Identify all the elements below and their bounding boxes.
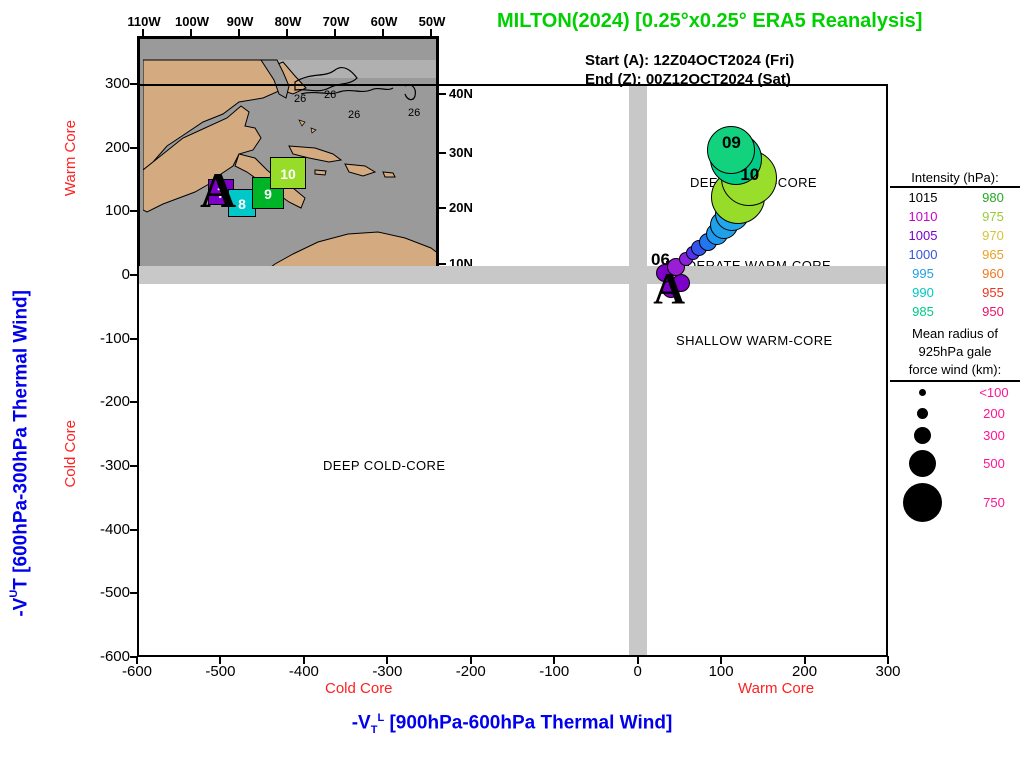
legend-radius-row: <100 [890, 382, 1020, 403]
legend-radius-dot [917, 408, 928, 419]
legend-intensity-value-right: 970 [970, 228, 1016, 243]
legend-intensity-row: 985950 [890, 302, 1020, 321]
y-tick-label: 300 [75, 75, 130, 92]
legend-radius-dot-wrap [896, 483, 948, 522]
legend-radius-label: 300 [970, 428, 1018, 443]
x-tick-mark [136, 656, 138, 664]
legend-radius-row: 750 [890, 480, 1020, 525]
y-tick-label: -500 [75, 584, 130, 601]
legend-intensity-title: Intensity (hPa): [890, 170, 1020, 188]
legend-radius-title-line: 925hPa gale [890, 343, 1020, 361]
lon-tick-mark [190, 29, 192, 36]
legend-intensity-row: 990955 [890, 283, 1020, 302]
legend-radius-row: 500 [890, 447, 1020, 480]
lon-tick-label: 110W [124, 14, 164, 29]
lon-tick-label: 90W [220, 14, 260, 29]
legend-radius-dot-wrap [896, 389, 948, 396]
legend-radius-row: 300 [890, 424, 1020, 447]
x-tick-mark [637, 656, 639, 664]
legend-intensity-value-left: 995 [900, 266, 946, 281]
legend-intensity-value-left: 1005 [900, 228, 946, 243]
track-day-label: 10 [740, 165, 759, 185]
lon-tick-mark [238, 29, 240, 36]
lon-tick-label: 100W [172, 14, 212, 29]
legend-intensity-value-left: 990 [900, 285, 946, 300]
legend: Intensity (hPa): 10159801010975100597010… [890, 170, 1020, 525]
legend-radius-dot [919, 389, 926, 396]
x-tick-label: -600 [107, 663, 167, 680]
legend-intensity-value-right: 960 [970, 266, 1016, 281]
x-tick-mark [470, 656, 472, 664]
lon-tick-mark [142, 29, 144, 36]
legend-radius-title: Mean radius of925hPa galeforce wind (km)… [890, 325, 1020, 382]
legend-radius-dot-wrap [896, 427, 948, 444]
x-tick-label: 200 [775, 663, 835, 680]
legend-radius-dot [909, 450, 936, 477]
legend-intensity-row: 1000965 [890, 245, 1020, 264]
x-tick-mark [553, 656, 555, 664]
legend-radius-rows: <100200300500750 [890, 382, 1020, 525]
track-points-layer: 060910A [137, 84, 888, 657]
lon-tick-label: 60W [364, 14, 404, 29]
x-tick-mark [219, 656, 221, 664]
legend-radius-label: <100 [970, 385, 1018, 400]
x-tick-label: -400 [274, 663, 334, 680]
legend-intensity-row: 1005970 [890, 226, 1020, 245]
x-tick-label: -100 [524, 663, 584, 680]
legend-intensity-value-left: 1010 [900, 209, 946, 224]
x-tick-label: 100 [691, 663, 751, 680]
x-tick-label: 0 [608, 663, 668, 680]
legend-intensity-row: 1010975 [890, 207, 1020, 226]
x-tick-label: -200 [441, 663, 501, 680]
y-tick-label: -200 [75, 393, 130, 410]
x-tick-label: -500 [190, 663, 250, 680]
lon-tick-mark [382, 29, 384, 36]
legend-intensity-value-left: 1015 [900, 190, 946, 205]
y-tick-label: -300 [75, 457, 130, 474]
legend-radius-label: 750 [970, 495, 1018, 510]
legend-intensity-rows: 1015980101097510059701000965995960990955… [890, 188, 1020, 321]
track-start-marker: A [653, 267, 685, 311]
x-tick-mark [303, 656, 305, 664]
lon-tick-label: 70W [316, 14, 356, 29]
legend-intensity-value-left: 985 [900, 304, 946, 319]
lon-tick-label: 80W [268, 14, 308, 29]
y-tick-label: 0 [75, 266, 130, 283]
x-tick-mark [887, 656, 889, 664]
legend-radius-label: 200 [970, 406, 1018, 421]
inset-map-lon-axis: 110W100W90W80W70W60W50W [137, 14, 439, 36]
x-tick-mark [720, 656, 722, 664]
y-tick-label: -400 [75, 521, 130, 538]
legend-radius-row: 200 [890, 403, 1020, 424]
legend-intensity-row: 1015980 [890, 188, 1020, 207]
x-tick-label: -300 [357, 663, 417, 680]
lon-tick-mark [286, 29, 288, 36]
legend-intensity-value-right: 965 [970, 247, 1016, 262]
legend-intensity-value-left: 1000 [900, 247, 946, 262]
legend-intensity-value-right: 955 [970, 285, 1016, 300]
legend-radius-dot-wrap [896, 450, 948, 477]
legend-radius-label: 500 [970, 456, 1018, 471]
legend-radius-title-line: Mean radius of [890, 325, 1020, 343]
lon-tick-mark [334, 29, 336, 36]
x-tick-mark [804, 656, 806, 664]
x-tick-mark [386, 656, 388, 664]
legend-radius-dot [903, 483, 942, 522]
legend-intensity-value-right: 980 [970, 190, 1016, 205]
legend-intensity-row: 995960 [890, 264, 1020, 283]
lon-tick-label: 50W [412, 14, 452, 29]
track-day-label: 09 [722, 133, 741, 153]
legend-radius-title-line: force wind (km): [890, 361, 1020, 379]
y-tick-label: 100 [75, 202, 130, 219]
y-tick-label: -100 [75, 330, 130, 347]
legend-radius-dot-wrap [896, 408, 948, 419]
legend-intensity-value-right: 975 [970, 209, 1016, 224]
lon-tick-mark [430, 29, 432, 36]
y-tick-label: 200 [75, 139, 130, 156]
legend-intensity-value-right: 950 [970, 304, 1016, 319]
legend-radius-dot [914, 427, 931, 444]
x-tick-label: 300 [858, 663, 918, 680]
